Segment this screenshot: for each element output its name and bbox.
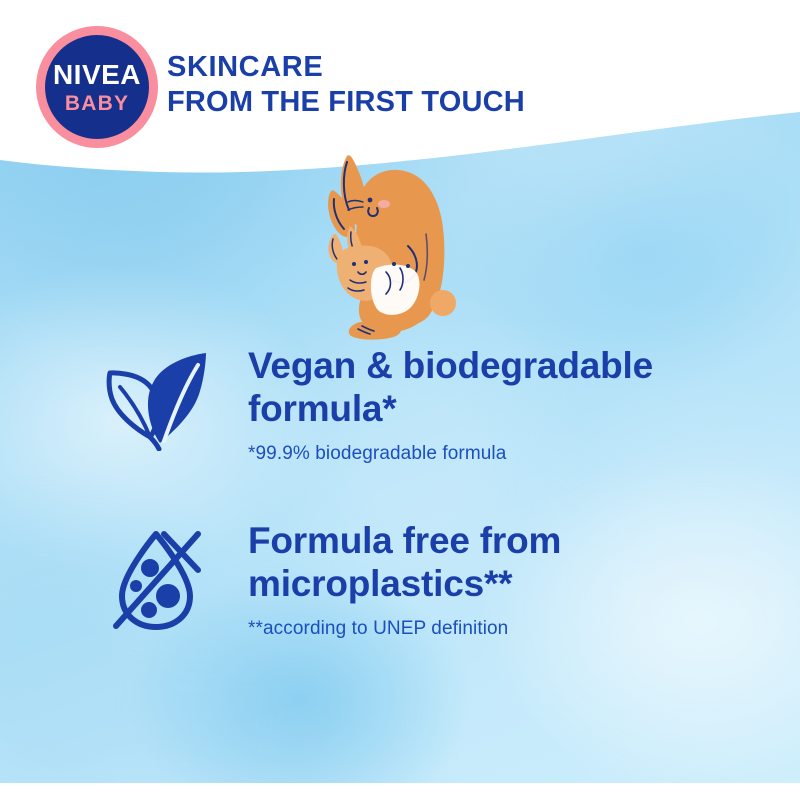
rabbit-illustration xyxy=(300,138,510,348)
header-tagline: SKINCARE FROM THE FIRST TOUCH xyxy=(167,50,525,121)
feature-text-microplastics: Formula free from microplastics** **acco… xyxy=(216,520,718,640)
feature-text-vegan: Vegan & biodegradable formula* *99.9% bi… xyxy=(216,345,718,465)
logo-circle: NIVEA BABY xyxy=(45,35,149,139)
no-microplastics-droplet-icon xyxy=(102,526,210,634)
header-tagline-line1: SKINCARE xyxy=(167,50,525,85)
feature-title: Formula free from microplastics** xyxy=(248,520,718,606)
logo-sub-name: BABY xyxy=(65,93,129,114)
logo-brand-name: NIVEA xyxy=(53,61,141,89)
feature-row-microplastics: Formula free from microplastics** **acco… xyxy=(96,520,718,640)
feature-note: **according to UNEP definition xyxy=(248,618,718,640)
nivea-baby-logo: NIVEA BABY xyxy=(36,26,158,148)
header-tagline-line2: FROM THE FIRST TOUCH xyxy=(167,85,525,120)
bottom-white-strip xyxy=(0,783,800,800)
feature-icon-wrapper xyxy=(96,520,216,634)
feature-row-vegan: Vegan & biodegradable formula* *99.9% bi… xyxy=(96,345,718,465)
feature-title: Vegan & biodegradable formula* xyxy=(248,345,718,431)
feature-icon-wrapper xyxy=(96,345,216,451)
feature-note: *99.9% biodegradable formula xyxy=(248,443,718,465)
nivea-baby-skincare-banner: NIVEA BABY SKINCARE FROM THE FIRST TOUCH xyxy=(0,0,800,800)
leaf-icon xyxy=(102,351,210,451)
